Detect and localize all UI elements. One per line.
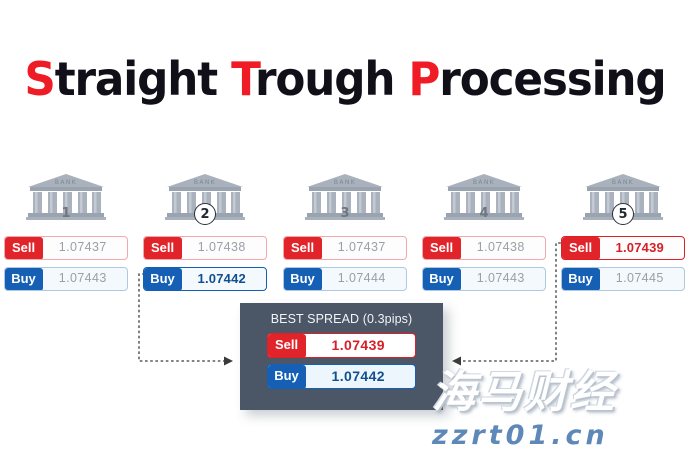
buy-value: 1.07445 <box>600 268 685 290</box>
best-spread-title: BEST SPREAD (0.3pips) <box>240 303 443 326</box>
bank-number: 3 <box>334 203 356 225</box>
bank-building-icon: BANK <box>163 172 247 222</box>
buy-row[interactable]: Buy 1.07443 <box>422 267 546 291</box>
buy-value: 1.07443 <box>461 268 546 290</box>
sell-row[interactable]: Sell 1.07438 <box>143 236 267 260</box>
page-title: Straight Trough Processing <box>17 50 673 108</box>
buy-label: Buy <box>144 268 182 291</box>
buy-value: 1.07444 <box>322 268 407 290</box>
svg-text:BANK: BANK <box>334 179 356 186</box>
bank-price-rows-2: Sell 1.07438 Buy 1.07442 <box>143 236 267 291</box>
buy-label: Buy <box>5 268 43 291</box>
bank-icon-wrap-2: BANK <box>143 170 267 222</box>
sell-row[interactable]: Sell 1.07438 <box>422 236 546 260</box>
sell-label: Sell <box>5 237 43 260</box>
bank-number: 5 <box>612 203 634 225</box>
bank-icon-wrap-1: BANK <box>4 170 128 222</box>
best-spread-sell-row[interactable]: Sell 1.07439 <box>267 333 416 358</box>
bank-building-icon: BANK <box>303 172 387 222</box>
best-spread-buy-value: 1.07442 <box>306 365 416 388</box>
bank-column-1: BANK <box>4 170 128 298</box>
sell-value: 1.07437 <box>43 237 128 259</box>
bank-column-5: BANK <box>561 170 685 298</box>
sell-value: 1.07437 <box>322 237 407 259</box>
title-part-2: T <box>231 52 255 106</box>
title-part-4: P <box>408 52 439 106</box>
sell-row[interactable]: Sell 1.07437 <box>4 236 128 260</box>
title-part-1: traight <box>55 52 231 106</box>
best-spread-rows: Sell 1.07439 Buy 1.07442 <box>240 326 443 389</box>
sell-value: 1.07438 <box>461 237 546 259</box>
best-spread-sell-value: 1.07439 <box>306 334 416 357</box>
buy-label: Buy <box>562 268 600 291</box>
infographic-canvas: Straight Trough Processing BANK <box>0 0 690 459</box>
bank-column-4: BANK <box>422 170 546 298</box>
bank-column-3: BANK <box>283 170 407 298</box>
bank-price-rows-3: Sell 1.07437 Buy 1.07444 <box>283 236 407 291</box>
bank-price-rows-1: Sell 1.07437 Buy 1.07443 <box>4 236 128 291</box>
buy-value: 1.07443 <box>43 268 128 290</box>
buy-label: Buy <box>268 365 306 389</box>
bank-number: 4 <box>473 203 495 225</box>
sell-label: Sell <box>284 237 322 260</box>
title-part-0: S <box>24 52 54 106</box>
buy-row[interactable]: Buy 1.07444 <box>283 267 407 291</box>
sell-label: Sell <box>562 237 600 260</box>
buy-row[interactable]: Buy 1.07443 <box>4 267 128 291</box>
title-part-5: rocessing <box>439 52 665 106</box>
svg-text:BANK: BANK <box>55 179 77 186</box>
buy-row[interactable]: Buy 1.07442 <box>143 267 267 291</box>
bank-number: 2 <box>194 203 216 225</box>
sell-label: Sell <box>423 237 461 260</box>
buy-value: 1.07442 <box>182 268 267 290</box>
bank-building-icon: BANK <box>24 172 108 222</box>
bank-number: 1 <box>55 203 77 225</box>
svg-text:BANK: BANK <box>473 179 495 186</box>
sell-row[interactable]: Sell 1.07437 <box>283 236 407 260</box>
bank-building-icon: BANK <box>581 172 665 222</box>
title-part-3: rough <box>255 52 408 106</box>
sell-row[interactable]: Sell 1.07439 <box>561 236 685 260</box>
svg-text:BANK: BANK <box>612 179 634 186</box>
bank-icon-wrap-5: BANK <box>561 170 685 222</box>
best-spread-buy-row[interactable]: Buy 1.07442 <box>267 364 416 389</box>
sell-value: 1.07439 <box>600 237 685 259</box>
watermark-domain-text: zzrt01.cn <box>432 420 684 451</box>
sell-label: Sell <box>268 334 306 358</box>
bank-icon-wrap-3: BANK <box>283 170 407 222</box>
sell-value: 1.07438 <box>182 237 267 259</box>
bank-price-rows-4: Sell 1.07438 Buy 1.07443 <box>422 236 546 291</box>
buy-label: Buy <box>423 268 461 291</box>
bank-price-rows-5: Sell 1.07439 Buy 1.07445 <box>561 236 685 291</box>
svg-text:BANK: BANK <box>194 179 216 186</box>
buy-label: Buy <box>284 268 322 291</box>
sell-label: Sell <box>144 237 182 260</box>
bank-icon-wrap-4: BANK <box>422 170 546 222</box>
bank-building-icon: BANK <box>442 172 526 222</box>
best-spread-panel: BEST SPREAD (0.3pips) Sell 1.07439 Buy 1… <box>240 303 443 410</box>
buy-row[interactable]: Buy 1.07445 <box>561 267 685 291</box>
bank-column-2: BANK <box>143 170 267 298</box>
